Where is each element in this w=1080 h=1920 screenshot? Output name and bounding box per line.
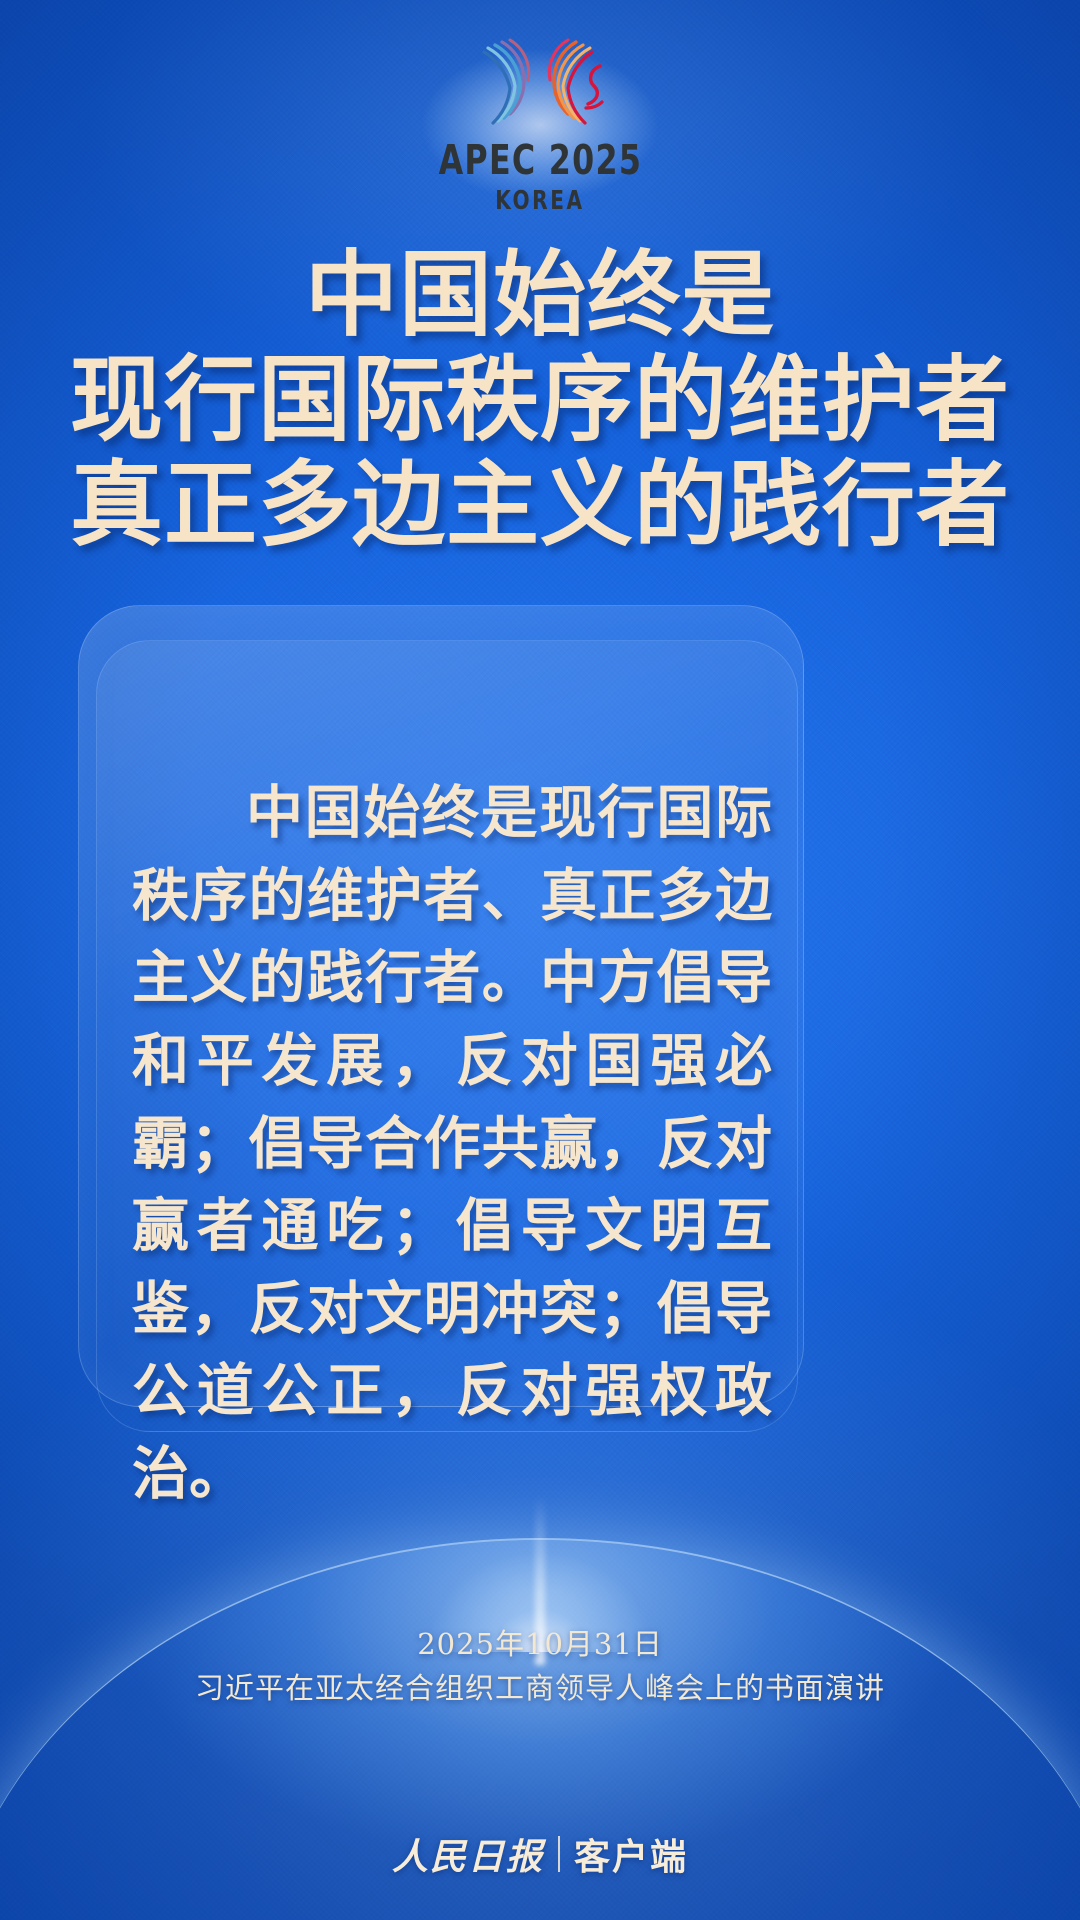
footer-logo: 人民日报 客户端 xyxy=(0,1828,1080,1880)
headline-line-1: 中国始终是 xyxy=(0,243,1080,348)
logo-subtitle: KOREA xyxy=(495,188,584,214)
headline-line-2: 现行国际秩序的维护者 xyxy=(0,348,1080,453)
headline-line-3: 真正多边主义的践行者 xyxy=(0,453,1080,558)
footer-brand: 人民日报 xyxy=(392,1828,544,1880)
quote-text: 中国始终是现行国际秩序的维护者、真正多边主义的践行者。中方倡导和平发展，反对国强… xyxy=(132,772,772,1516)
logo-title: APEC 2025 xyxy=(438,140,642,181)
attribution-date: 2025年10月31日 xyxy=(0,1630,1080,1659)
apec-emblem-icon xyxy=(440,26,640,138)
poster-canvas: APEC 2025 KOREA 中国始终是 现行国际秩序的维护者 真正多边主义的… xyxy=(0,0,1080,1920)
footer-divider xyxy=(558,1836,560,1872)
headline: 中国始终是 现行国际秩序的维护者 真正多边主义的践行者 xyxy=(0,243,1080,558)
attribution-source: 习近平在亚太经合组织工商领导人峰会上的书面演讲 xyxy=(0,1674,1080,1703)
apec-logo: APEC 2025 KOREA xyxy=(0,26,1080,214)
attribution: 2025年10月31日 习近平在亚太经合组织工商领导人峰会上的书面演讲 xyxy=(0,1630,1080,1703)
footer-app-name: 客户端 xyxy=(574,1828,688,1880)
